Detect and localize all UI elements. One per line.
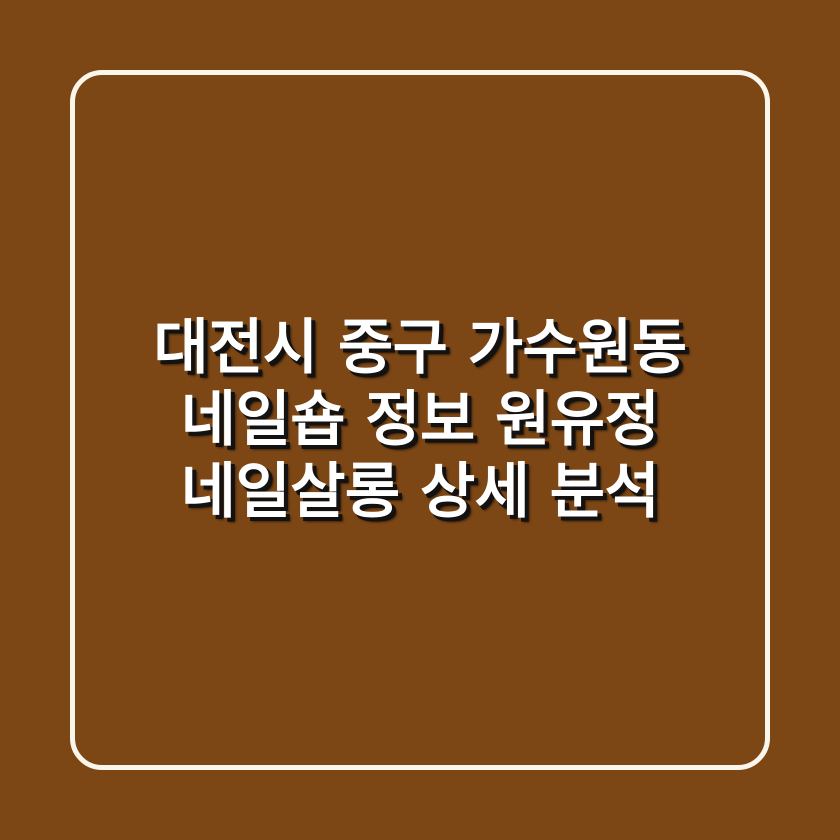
title-line-1: 대전시 중구 가수원동	[94, 312, 746, 384]
title-line-3: 네일살롱 상세 분석	[94, 456, 746, 528]
title-block: 대전시 중구 가수원동 네일숍 정보 원유정 네일살롱 상세 분석	[70, 70, 770, 770]
title-line-2: 네일숍 정보 원유정	[94, 384, 746, 456]
title-card: 대전시 중구 가수원동 네일숍 정보 원유정 네일살롱 상세 분석	[0, 0, 840, 840]
